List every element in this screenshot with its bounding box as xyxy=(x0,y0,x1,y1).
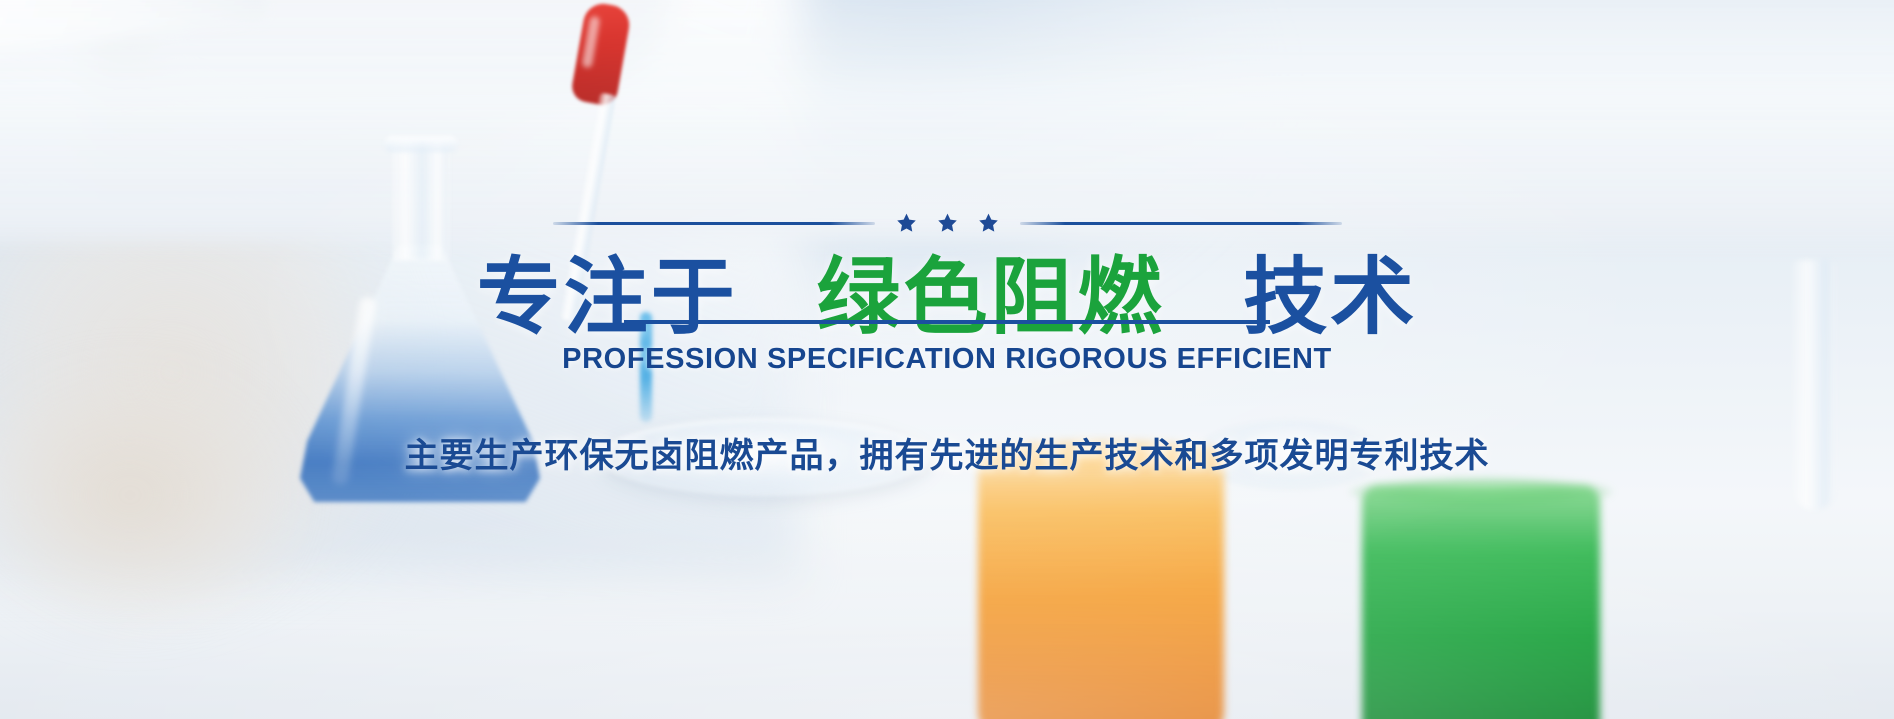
pipette-liquid-stream xyxy=(640,312,652,422)
orange-beaker-icon xyxy=(978,448,1224,719)
pipette-bulb xyxy=(570,1,633,107)
flask-lip xyxy=(384,136,458,152)
desk-surface xyxy=(0,0,1894,240)
gloved-hand-icon xyxy=(0,330,340,660)
red-bulb-pipette-icon xyxy=(556,0,676,420)
pipette-stem xyxy=(560,93,616,322)
petri-dish-icon xyxy=(600,418,930,496)
green-beaker-icon xyxy=(1362,486,1600,719)
erlenmeyer-flask-blue-liquid-icon xyxy=(300,140,540,510)
test-tube-icon xyxy=(1792,260,1836,510)
background-photo xyxy=(0,0,1894,719)
hero-banner: 专注于 绿色阻燃 技术 PROFESSION SPECIFICATION RIG… xyxy=(0,0,1894,719)
flask-neck xyxy=(393,140,449,260)
